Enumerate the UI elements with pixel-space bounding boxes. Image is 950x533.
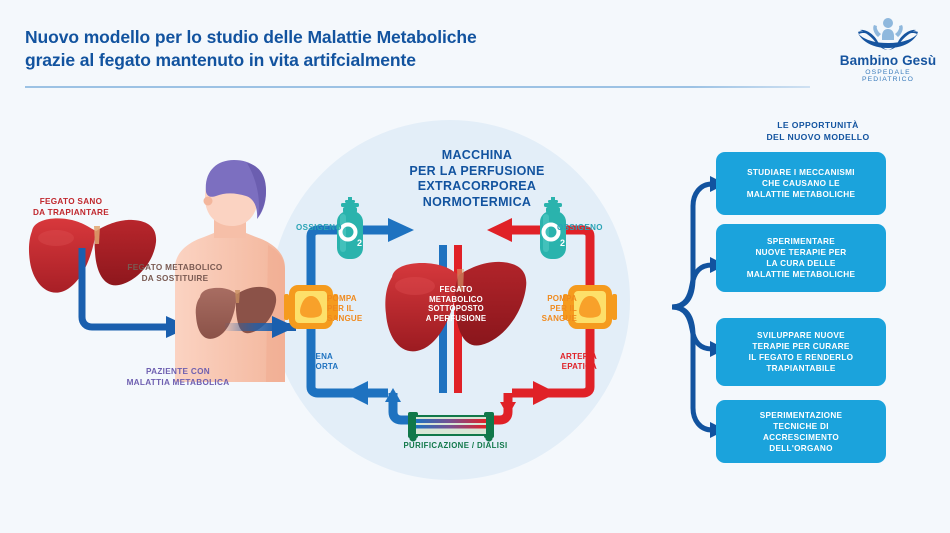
opportunity-2-line4: MALATTIE METABOLICHE: [747, 269, 855, 280]
opportunity-3-line1: SVILUPPARE NUOVE: [749, 330, 854, 341]
label-patient-line1: PAZIENTE CON: [118, 366, 238, 377]
label-patient-liver-line2: DA SOSTITUIRE: [110, 273, 240, 284]
label-portal-vein-line1: VENA: [310, 352, 356, 362]
svg-text:2: 2: [357, 238, 362, 248]
opportunity-2-line2: NUOVE TERAPIE PER: [747, 247, 855, 258]
opportunity-4-line1: SPERIMENTAZIONE: [760, 410, 843, 421]
logo-name: Bambino Gesù: [838, 53, 938, 68]
opportunity-4-line2: TECNICHE DI: [760, 421, 843, 432]
page-title: Nuovo modello per lo studio delle Malatt…: [25, 26, 645, 72]
page-title-line2: grazie al fegato mantenuto in vita artif…: [25, 49, 645, 72]
label-pump-right-line2: PER IL: [531, 304, 577, 314]
opportunity-box-1[interactable]: STUDIARE I MECCANISMI CHE CAUSANO LE MAL…: [716, 152, 886, 215]
title-divider: [25, 86, 810, 88]
opportunity-1-line1: STUDIARE I MECCANISMI: [747, 167, 855, 178]
opportunity-4-line4: DELL'ORGANO: [760, 443, 843, 454]
opportunities-connector: [616, 184, 712, 430]
machine-title-line2: PER LA PERFUSIONE: [372, 164, 582, 180]
hands-cradling-child-icon: [838, 16, 938, 52]
infographic-canvas: 2 2: [0, 0, 950, 533]
label-patient-line2: MALATTIA METABOLICA: [118, 377, 238, 388]
machine-title-line1: MACCHINA: [372, 148, 582, 164]
opportunity-3-line4: TRAPIANTABILE: [749, 363, 854, 374]
machine-title-line3: EXTRACORPOREA: [372, 179, 582, 195]
opportunity-1-line2: CHE CAUSANO LE: [747, 178, 855, 189]
logo-subtitle: OSPEDALE PEDIATRICO: [838, 69, 938, 83]
opportunities-arrowheads: [710, 176, 726, 438]
label-hepatic-artery-line1: ARTERIA: [545, 352, 597, 362]
label-patient-liver-line1: FEGATO METABOLICO: [110, 262, 240, 273]
label-oxygen-left: OSSIGENO: [296, 223, 342, 232]
label-donor-liver-line2: DA TRAPIANTARE: [16, 207, 126, 218]
opportunity-4-line3: ACCRESCIMENTO: [760, 432, 843, 443]
machine-title: MACCHINA PER LA PERFUSIONE EXTRACORPOREA…: [372, 148, 582, 210]
opportunity-3-line2: TERAPIE PER CURARE: [749, 341, 854, 352]
opportunity-box-3[interactable]: SVILUPPARE NUOVE TERAPIE PER CURARE IL F…: [716, 318, 886, 386]
opportunity-3-line3: IL FEGATO E RENDERLO: [749, 352, 854, 363]
opportunity-1-line3: MALATTIE METABOLICHE: [747, 189, 855, 200]
label-portal-vein: VENA PORTA: [310, 352, 356, 372]
opportunities-header: LE OPPORTUNITÀ DEL NUOVO MODELLO: [706, 120, 930, 143]
opportunity-2-line1: SPERIMENTARE: [747, 236, 855, 247]
opportunity-box-2[interactable]: SPERIMENTARE NUOVE TERAPIE PER LA CURA D…: [716, 224, 886, 292]
label-pump-left-line3: SANGUE: [327, 314, 373, 324]
label-perfused-liver-line3: SOTTOPOSTO: [410, 304, 502, 314]
label-perfused-liver-line4: A PERFUSIONE: [410, 314, 502, 324]
label-pump-left: POMPA PER IL SANGUE: [327, 294, 373, 324]
label-dialysis: PURIFICAZIONE / DIALISI: [378, 441, 533, 450]
label-hepatic-artery-line2: EPATICA: [545, 362, 597, 372]
label-perfused-liver-line1: FEGATO: [410, 285, 502, 295]
opportunity-2-line3: LA CURA DELLE: [747, 258, 855, 269]
opportunity-box-4[interactable]: SPERIMENTAZIONE TECNICHE DI ACCRESCIMENT…: [716, 400, 886, 463]
label-portal-vein-line2: PORTA: [310, 362, 356, 372]
label-oxygen-right: OSSIGENO: [557, 223, 603, 232]
svg-text:2: 2: [560, 238, 565, 248]
page-title-line1: Nuovo modello per lo studio delle Malatt…: [25, 27, 477, 47]
label-patient: PAZIENTE CON MALATTIA METABOLICA: [118, 366, 238, 388]
label-perfused-liver-line2: METABOLICO: [410, 295, 502, 305]
label-donor-liver: FEGATO SANO DA TRAPIANTARE: [16, 196, 126, 218]
label-hepatic-artery: ARTERIA EPATICA: [545, 352, 597, 372]
label-patient-liver: FEGATO METABOLICO DA SOSTITUIRE: [110, 262, 240, 284]
hospital-logo[interactable]: Bambino Gesù OSPEDALE PEDIATRICO: [838, 16, 938, 88]
machine-title-line4: NORMOTERMICA: [372, 195, 582, 211]
label-pump-left-line2: PER IL: [327, 304, 373, 314]
opportunities-header-line2: DEL NUOVO MODELLO: [706, 132, 930, 144]
label-pump-right-line1: POMPA: [531, 294, 577, 304]
label-perfused-liver: FEGATO METABOLICO SOTTOPOSTO A PERFUSION…: [410, 285, 502, 323]
label-pump-right: POMPA PER IL SANGUE: [531, 294, 577, 324]
label-pump-right-line3: SANGUE: [531, 314, 577, 324]
opportunities-header-line1: LE OPPORTUNITÀ: [706, 120, 930, 132]
label-pump-left-line1: POMPA: [327, 294, 373, 304]
label-donor-liver-line1: FEGATO SANO: [16, 196, 126, 207]
